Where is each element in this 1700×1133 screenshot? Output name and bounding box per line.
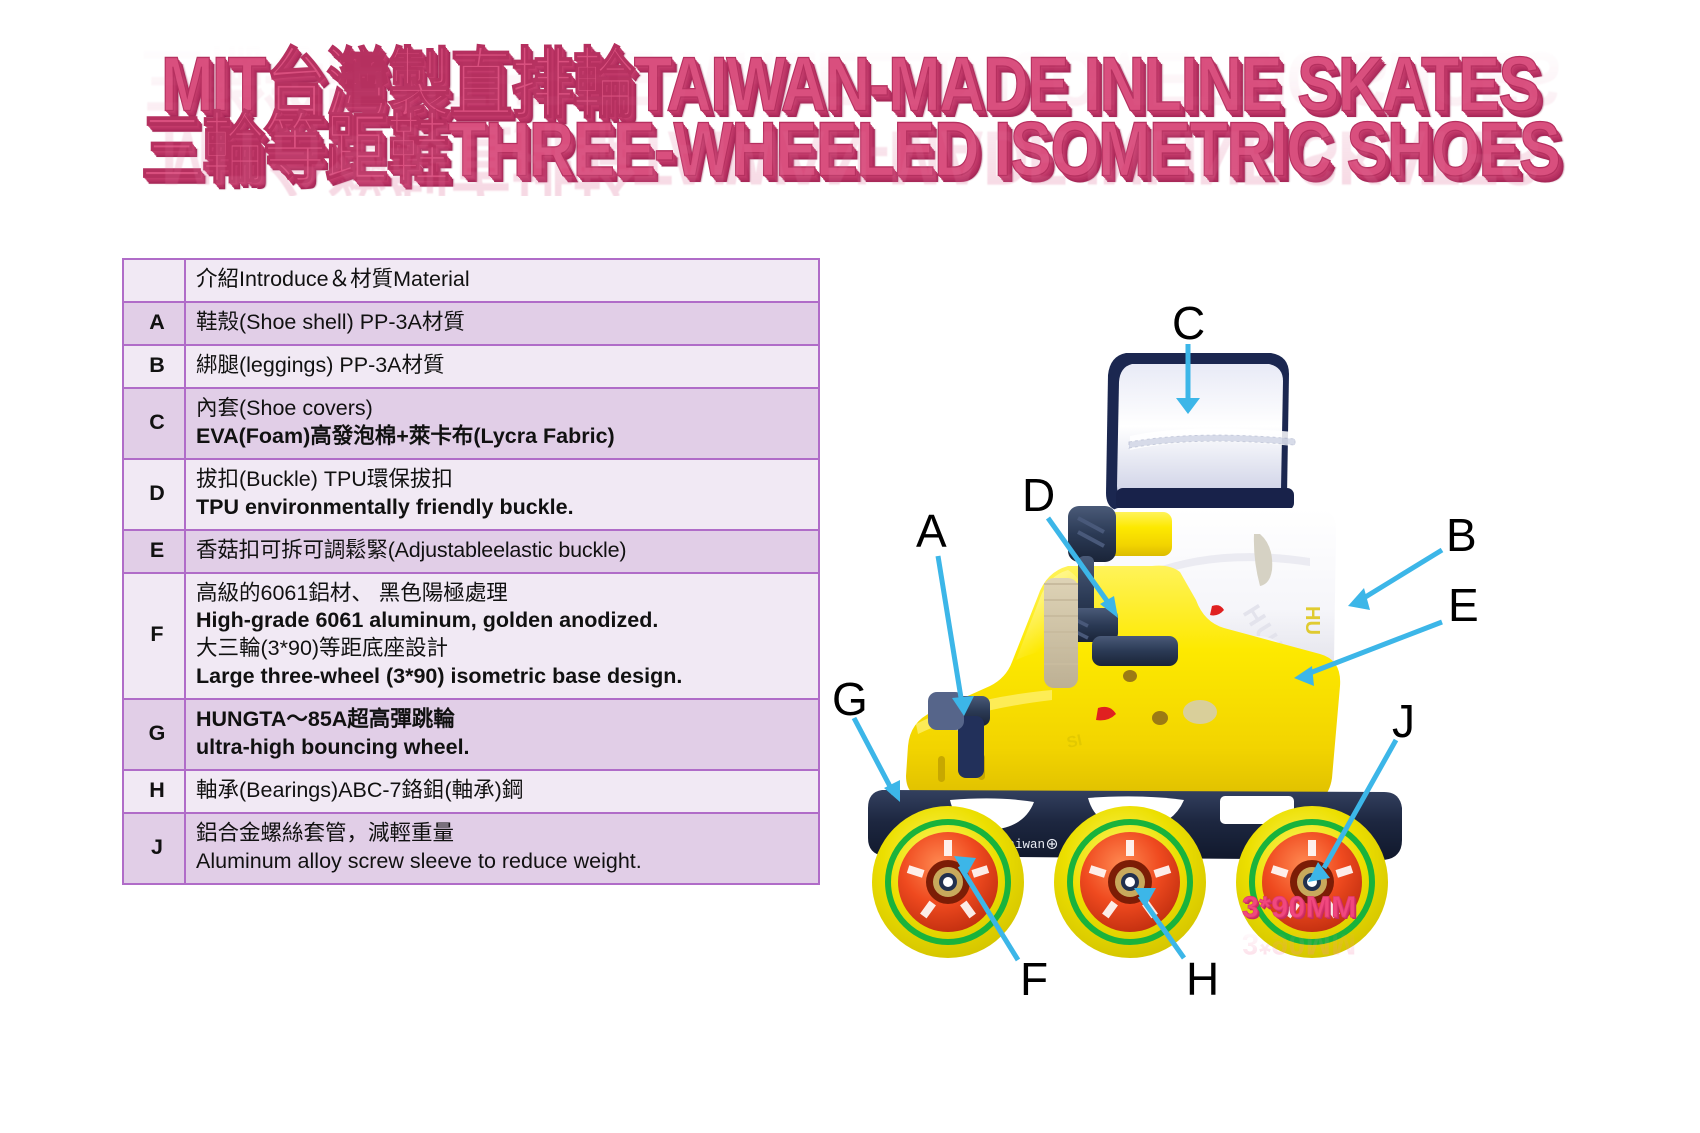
desc-line: 綁腿(leggings) PP-3A材質 bbox=[196, 352, 814, 380]
callout-letter-f: F bbox=[1020, 956, 1048, 1002]
table-row: F 高級的6061鋁材、 黑色陽極處理 High-grade 6061 alum… bbox=[123, 573, 819, 700]
row-description: 內套(Shoe covers) EVA(Foam)高發泡棉+萊卡布(Lycra … bbox=[185, 388, 819, 459]
row-description: 高級的6061鋁材、 黑色陽極處理 High-grade 6061 alumin… bbox=[185, 573, 819, 700]
size-caption-reflection: 3*90MM bbox=[1242, 926, 1357, 960]
arrow-b-icon bbox=[1348, 550, 1442, 610]
desc-line: 拔扣(Buckle) TPU環保拔扣 bbox=[196, 466, 814, 494]
desc-line: 大三輪(3*90)等距底座設計 bbox=[196, 635, 814, 663]
arrow-g-icon bbox=[854, 718, 900, 802]
row-description: 軸承(Bearings)ABC-7鉻鉬(軸承)鋼 bbox=[185, 770, 819, 813]
boot-cuff bbox=[1106, 353, 1295, 513]
table-row: G HUNGTA～85A超高彈跳輪 ultra-high bouncing wh… bbox=[123, 699, 819, 770]
row-description: 鞋殼(Shoe shell) PP-3A材質 bbox=[185, 302, 819, 345]
callout-letter-h: H bbox=[1186, 956, 1219, 1002]
desc-line: Aluminum alloy screw sleeve to reduce we… bbox=[196, 848, 814, 876]
desc-line: Large three-wheel (3*90) isometric base … bbox=[196, 663, 814, 691]
row-key: G bbox=[123, 699, 185, 770]
row-key: F bbox=[123, 573, 185, 700]
wheel-middle bbox=[1054, 806, 1206, 958]
desc-line: 鋁合金螺絲套管，減輕重量 bbox=[196, 820, 814, 848]
table-row: B 綁腿(leggings) PP-3A材質 bbox=[123, 345, 819, 388]
row-key: C bbox=[123, 388, 185, 459]
desc-line: 高級的6061鋁材、 黑色陽極處理 bbox=[196, 580, 814, 608]
size-caption-text: 3*90MM bbox=[1242, 891, 1357, 925]
title-line-2: 三輪等距鞋THREE-WHEELED ISOMETRIC SHOES bbox=[0, 111, 1700, 190]
inline-skate-illustration: HUNGTA TAIWAN HUNGTA bbox=[830, 320, 1530, 1000]
row-key: B bbox=[123, 345, 185, 388]
callout-letter-d: D bbox=[1022, 472, 1055, 518]
desc-line: EVA(Foam)高發泡棉+萊卡布(Lycra Fabric) bbox=[196, 423, 814, 451]
callout-letter-a: A bbox=[916, 508, 947, 554]
desc-line: 內套(Shoe covers) bbox=[196, 395, 814, 423]
desc-line: 香菇扣可拆可調鬆緊(Adjustableelastic buckle) bbox=[196, 537, 814, 565]
desc-line: 介紹Introduce＆材質Material bbox=[196, 266, 814, 294]
desc-line: TPU environmentally friendly buckle. bbox=[196, 494, 814, 522]
table-row: C 內套(Shoe covers) EVA(Foam)高發泡棉+萊卡布(Lycr… bbox=[123, 388, 819, 459]
callout-letter-b: B bbox=[1446, 512, 1477, 558]
row-description: 綁腿(leggings) PP-3A材質 bbox=[185, 345, 819, 388]
row-key: A bbox=[123, 302, 185, 345]
row-key: J bbox=[123, 813, 185, 884]
row-key bbox=[123, 259, 185, 302]
callout-letter-j: J bbox=[1392, 698, 1415, 744]
row-description: HUNGTA～85A超高彈跳輪 ultra-high bouncing whee… bbox=[185, 699, 819, 770]
desc-line: ultra-high bouncing wheel. bbox=[196, 734, 814, 762]
table-row: 介紹Introduce＆材質Material bbox=[123, 259, 819, 302]
table-row: J 鋁合金螺絲套管，減輕重量 Aluminum alloy screw slee… bbox=[123, 813, 819, 884]
table-row: H 軸承(Bearings)ABC-7鉻鉬(軸承)鋼 bbox=[123, 770, 819, 813]
product-photo: HUNGTA TAIWAN HUNGTA bbox=[830, 320, 1530, 1000]
size-caption: 3*90MM 3*90MM bbox=[1242, 891, 1357, 960]
table-row: A 鞋殼(Shoe shell) PP-3A材質 bbox=[123, 302, 819, 345]
svg-text:HU: HU bbox=[1301, 606, 1323, 635]
callout-letter-e: E bbox=[1448, 582, 1479, 628]
desc-line: 軸承(Bearings)ABC-7鉻鉬(軸承)鋼 bbox=[196, 777, 814, 805]
row-description: 鋁合金螺絲套管，減輕重量 Aluminum alloy screw sleeve… bbox=[185, 813, 819, 884]
row-description: 香菇扣可拆可調鬆緊(Adjustableelastic buckle) bbox=[185, 530, 819, 573]
row-key: E bbox=[123, 530, 185, 573]
specification-table: 介紹Introduce＆材質Material A 鞋殼(Shoe shell) … bbox=[122, 258, 820, 885]
row-description: 拔扣(Buckle) TPU環保拔扣 TPU environmentally f… bbox=[185, 459, 819, 530]
row-description: 介紹Introduce＆材質Material bbox=[185, 259, 819, 302]
callout-letter-c: C bbox=[1172, 300, 1205, 346]
row-key: D bbox=[123, 459, 185, 530]
table-row: E 香菇扣可拆可調鬆緊(Adjustableelastic buckle) bbox=[123, 530, 819, 573]
row-key: H bbox=[123, 770, 185, 813]
table-row: D 拔扣(Buckle) TPU環保拔扣 TPU environmentally… bbox=[123, 459, 819, 530]
desc-line: HUNGTA～85A超高彈跳輪 bbox=[196, 706, 814, 734]
page-title: MIT台灣製直排輪TAIWAN-MADE INLINE SKATES 三輪等距鞋… bbox=[0, 46, 1700, 176]
desc-line: High-grade 6061 aluminum, golden anodize… bbox=[196, 607, 814, 635]
desc-line: 鞋殼(Shoe shell) PP-3A材質 bbox=[196, 309, 814, 337]
callout-letter-g: G bbox=[832, 676, 868, 722]
